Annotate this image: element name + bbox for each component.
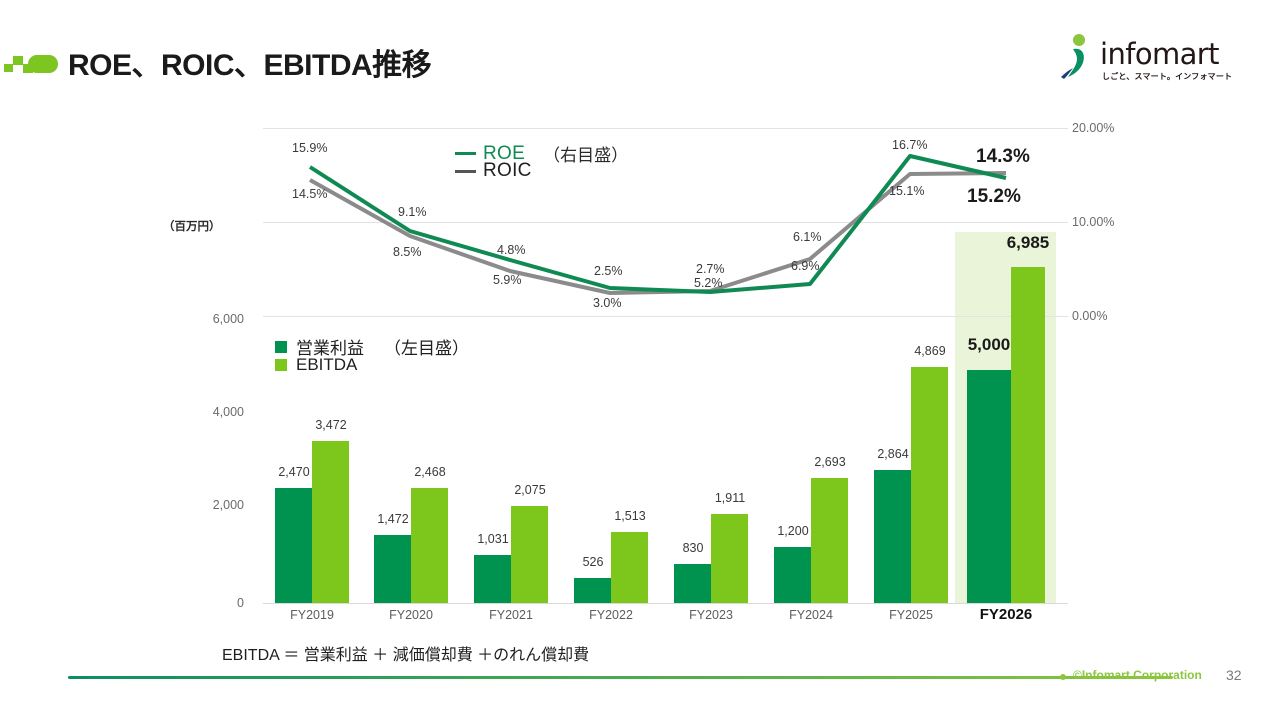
bar-ebitda-fy2026 [1011,267,1045,603]
legend-roic: ROIC [455,160,532,182]
left-tick-0: 0 [196,596,244,610]
right-tick-20: 20.00% [1072,121,1114,135]
bar-label-ebitda-fy2021: 2,075 [495,483,565,497]
legend-ebitda: EBITDA [275,355,357,375]
roic-label-fy2022: 2.5% [594,264,623,278]
bar-operating-profit-fy2024 [774,547,811,603]
left-tick-2000: 2,000 [196,498,244,512]
bar-label-ebitda-fy2023: 1,911 [695,491,765,505]
right-tick-10: 10.00% [1072,215,1114,229]
bar-label-ebitda-fy2020: 2,468 [395,465,465,479]
roe-line [310,156,1006,292]
bar-label-operating-profit-fy2024: 1,200 [758,524,828,538]
roe-label-fy2025: 16.7% [892,138,927,152]
ebitda-formula-note: EBITDA ＝ 営業利益 ＋ 減価償却費 ＋のれん償却費 [222,641,589,665]
category-label-fy2021: FY2021 [476,608,546,622]
bar-ebitda-fy2025 [911,367,948,603]
bar-operating-profit-fy2023 [674,564,711,603]
bar-operating-profit-fy2022 [574,578,611,603]
roe-legend-swatch [455,152,476,155]
bar-operating-profit-fy2026 [967,370,1011,603]
roic-legend-swatch [455,170,476,173]
bar-ebitda-fy2024 [811,478,848,603]
bar-label-operating-profit-fy2025: 2,864 [858,447,928,461]
bar-label-operating-profit-fy2020: 1,472 [358,512,428,526]
gridline-20pct [263,128,1068,129]
bar-operating-profit-fy2019 [275,488,312,603]
footer-rule [68,676,1173,679]
roic-label-fy2020: 8.5% [393,245,422,259]
operating-profit-legend-swatch [275,341,287,353]
ebitda-legend-label: EBITDA [296,355,357,375]
roe-label-fy2020: 9.1% [398,205,427,219]
category-label-fy2024: FY2024 [776,608,846,622]
right-scale-note: （右目盛） [543,141,628,166]
right-tick-0: 0.00% [1072,309,1107,323]
left-tick-6000: 6,000 [196,312,244,326]
bar-operating-profit-fy2020 [374,535,411,603]
category-label-fy2025: FY2025 [876,608,946,622]
category-label-fy2019: FY2019 [277,608,347,622]
bar-label-ebitda-fy2026: 6,985 [988,233,1068,253]
roe-label-fy2022: 3.0% [593,296,622,310]
bar-label-operating-profit-fy2021: 1,031 [458,532,528,546]
roe-label-fy2019: 15.9% [292,141,327,155]
copyright-text: ©Infomart Corporation [1073,668,1202,682]
roic-label-fy2019: 14.5% [292,187,327,201]
roe-label-fy2026: 14.3% [976,146,1030,168]
roe-label-fy2024: 6.9% [791,259,820,273]
bar-label-operating-profit-fy2023: 830 [658,541,728,555]
roic-label-fy2023: 2.7% [696,262,725,276]
category-label-fy2023: FY2023 [676,608,746,622]
roic-label-fy2025: 15.1% [889,184,924,198]
ebitda-legend-swatch [275,359,287,371]
gridline-10pct [263,222,1068,223]
bar-ebitda-fy2023 [711,514,748,603]
gridline-0pct [263,316,1068,317]
left-scale-note: （左目盛） [384,334,469,359]
combo-chart: 20.00% 10.00% 0.00% 6,000 4,000 2,000 0 … [0,0,1280,720]
bar-ebitda-fy2020 [411,488,448,603]
category-label-fy2020: FY2020 [376,608,446,622]
left-tick-4000: 4,000 [196,405,244,419]
footer-dot [1060,674,1066,680]
left-axis-unit-label: （百万円） [163,218,221,234]
gridline-bar-baseline [263,603,1068,604]
roe-label-fy2023: 5.2% [694,276,723,290]
roic-label-fy2024: 6.1% [793,230,822,244]
bar-label-ebitda-fy2024: 2,693 [795,455,865,469]
bar-label-ebitda-fy2019: 3,472 [296,418,366,432]
bar-label-operating-profit-fy2026: 5,000 [949,335,1029,355]
bar-operating-profit-fy2025 [874,470,911,603]
bar-label-operating-profit-fy2022: 526 [558,555,628,569]
bar-label-ebitda-fy2022: 1,513 [595,509,665,523]
bar-label-operating-profit-fy2019: 2,470 [259,465,329,479]
roic-label-fy2021: 4.8% [497,243,526,257]
page-number: 32 [1226,667,1242,683]
bar-operating-profit-fy2021 [474,555,511,603]
category-label-fy2022: FY2022 [576,608,646,622]
roic-legend-label: ROIC [483,160,532,182]
bar-ebitda-fy2021 [511,506,548,603]
roic-label-fy2026: 15.2% [967,186,1021,208]
category-label-fy2026: FY2026 [971,606,1041,623]
roe-label-fy2021: 5.9% [493,273,522,287]
